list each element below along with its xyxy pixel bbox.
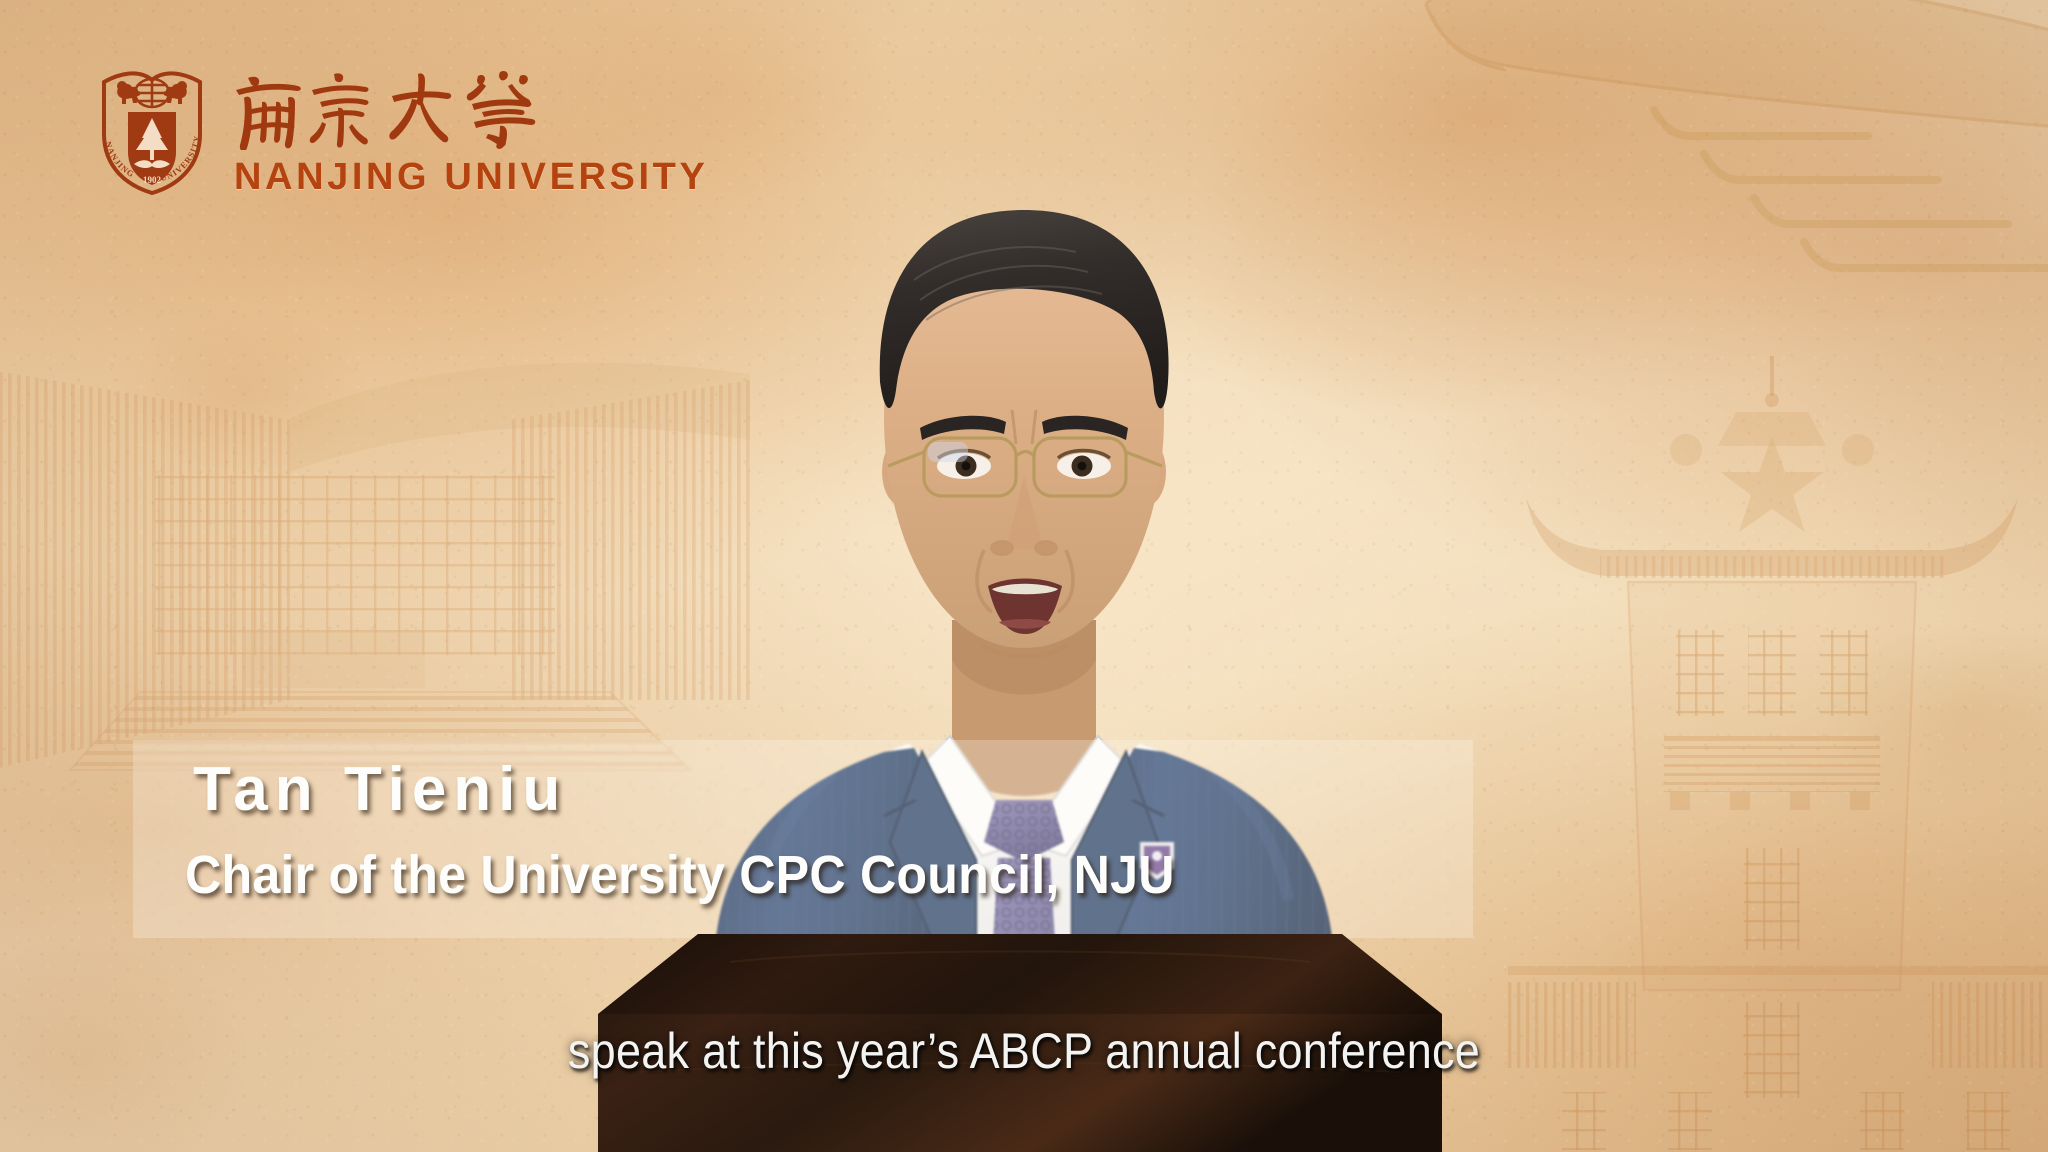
lower-third-banner: Tan Tieniu Chair of the University CPC C…: [133, 740, 1473, 938]
chinese-wordmark-nanjing-university: [234, 68, 554, 150]
english-wordmark: NANJING UNIVERSITY: [234, 156, 708, 199]
subtitle-caption: speak at this year’s ABCP annual confere…: [102, 1022, 1945, 1080]
video-frame: Tan Tieniu Chair of the University CPC C…: [0, 0, 2048, 1152]
crest-year: 1902: [143, 175, 162, 185]
nanjing-university-crest-icon: NANJING UNIVERSITY 1902: [88, 60, 216, 196]
speaker-title: Chair of the University CPC Council, NJU: [185, 844, 1175, 906]
nanjing-university-logo: NANJING UNIVERSITY 1902: [88, 60, 708, 199]
speaker-name: Tan Tieniu: [193, 754, 567, 825]
